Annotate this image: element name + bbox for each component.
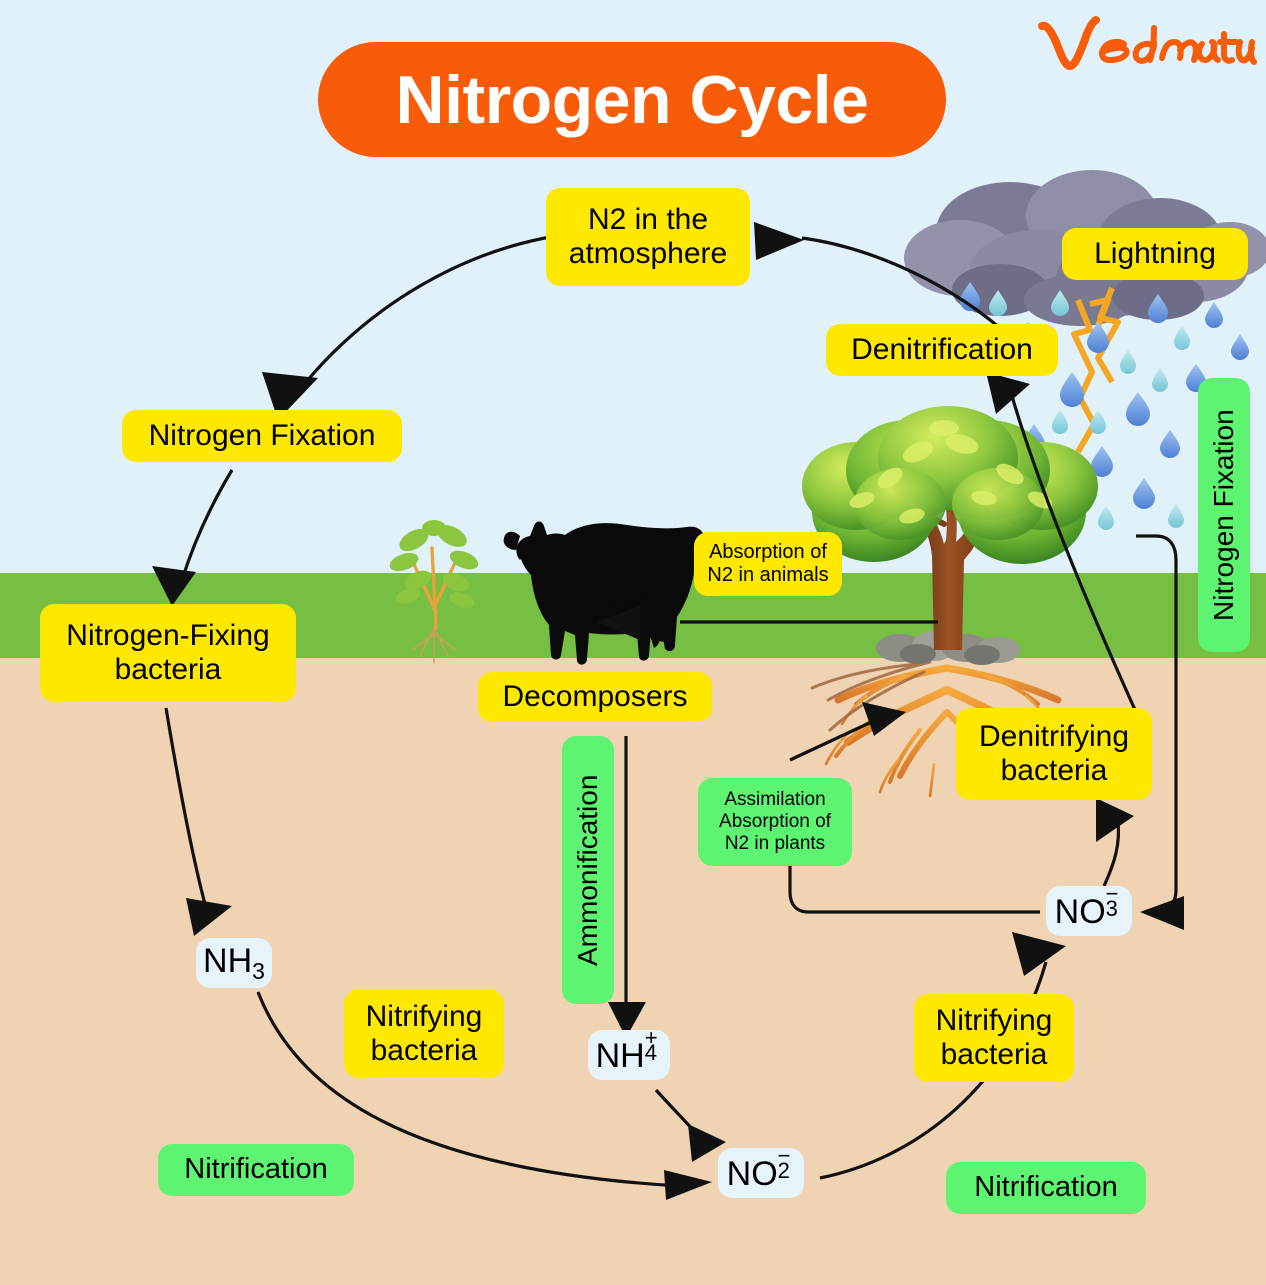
label-lightning: Lightning bbox=[1062, 228, 1248, 280]
label-denitrifying-bacteria: Denitrifying bacteria bbox=[956, 708, 1152, 800]
nitrate-subscript: 3 bbox=[1106, 896, 1118, 921]
label-ammonification: Ammonification bbox=[562, 736, 614, 1004]
label-n2-atmosphere: N2 in the atmosphere bbox=[546, 188, 750, 286]
label-nitrogen-fixation-left: Nitrogen Fixation bbox=[122, 410, 402, 462]
label-decomposers: Decomposers bbox=[478, 672, 712, 722]
page-title: Nitrogen Cycle bbox=[318, 42, 946, 157]
nitrite-subscript: 2 bbox=[778, 1158, 790, 1183]
ammonium-formula: NH bbox=[596, 1037, 645, 1075]
label-nitrogen-fixation-right: Nitrogen Fixation bbox=[1198, 378, 1250, 652]
ammonia-subscript: 3 bbox=[252, 958, 265, 984]
ammonia-formula: NH bbox=[203, 942, 252, 980]
nitrogen-cycle-diagram: Nitrogen Cycle N2 in the atmosphere Ligh… bbox=[0, 0, 1266, 1285]
label-nitrification-right: Nitrification bbox=[946, 1162, 1146, 1214]
compound-ammonium: NH+4 bbox=[588, 1030, 670, 1080]
nitrite-formula: NO bbox=[727, 1155, 778, 1193]
compound-nitrite: NO−2 bbox=[718, 1148, 804, 1198]
label-assimilation: Assimilation Absorption of N2 in plants bbox=[698, 778, 852, 866]
label-absorption-n2-animals: Absorption of N2 in animals bbox=[694, 532, 842, 596]
vedantu-logo-icon bbox=[1036, 14, 1258, 76]
label-denitrification: Denitrification bbox=[826, 324, 1058, 376]
label-nitrifying-bacteria-right: Nitrifying bacteria bbox=[914, 994, 1074, 1082]
page-title-text: Nitrogen Cycle bbox=[396, 61, 869, 139]
nitrate-formula: NO bbox=[1055, 893, 1106, 931]
compound-ammonia: NH3 bbox=[196, 938, 272, 988]
vedantu-logo bbox=[1036, 14, 1258, 76]
label-nitrification-left: Nitrification bbox=[158, 1144, 354, 1196]
ammonium-subscript: 4 bbox=[645, 1040, 657, 1065]
label-nitrifying-bacteria-left: Nitrifying bacteria bbox=[344, 990, 504, 1078]
compound-nitrate: NO−3 bbox=[1046, 886, 1132, 936]
label-nitrogen-fixing-bacteria: Nitrogen-Fixing bacteria bbox=[40, 604, 296, 702]
